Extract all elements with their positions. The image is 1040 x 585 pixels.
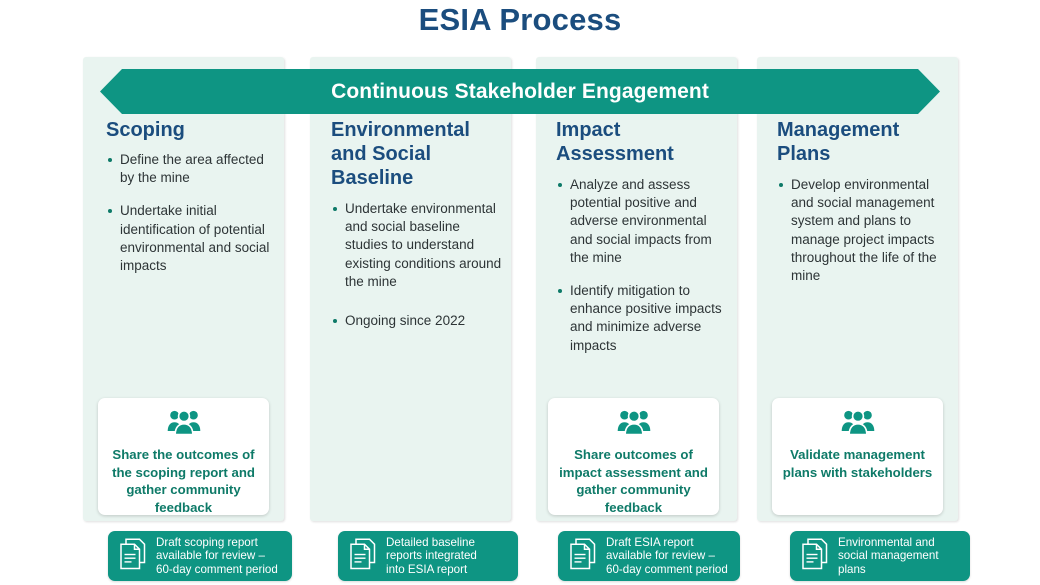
bullet-list-baseline: Undertake environmental and social basel… xyxy=(331,200,506,330)
column-content-management-plans: Management Plans Develop environmental a… xyxy=(777,118,952,285)
column-heading-management-plans: Management Plans xyxy=(777,118,952,166)
people-group-icon xyxy=(617,409,651,440)
bullet-list-scoping: Define the area affected by the mine Und… xyxy=(106,151,276,275)
engagement-text: Validate management plans with stakehold… xyxy=(772,446,943,481)
documents-icon xyxy=(349,538,377,575)
document-bar-baseline: Detailed baseline reports integrated int… xyxy=(338,531,518,581)
list-item: Identify mitigation to enhance positive … xyxy=(556,282,731,355)
engagement-card-scoping: Share the outcomes of the scoping report… xyxy=(98,398,269,515)
esia-process-diagram: ESIA Process Continuous Stakeholder Enga… xyxy=(0,0,1040,585)
list-item: Undertake environmental and social basel… xyxy=(331,200,506,291)
document-bar-management-plans: Environmental and social management plan… xyxy=(790,531,970,581)
documents-icon xyxy=(119,538,147,575)
column-heading-impact-assessment: Impact Assessment xyxy=(556,118,731,166)
engagement-text: Share outcomes of impact assessment and … xyxy=(548,446,719,516)
list-item: Define the area affected by the mine xyxy=(106,151,276,187)
column-heading-scoping: Scoping xyxy=(106,118,276,142)
bullet-list-management-plans: Develop environmental and social managem… xyxy=(777,176,952,285)
document-text: Draft ESIA report available for review –… xyxy=(606,536,728,577)
list-item: Undertake initial identification of pote… xyxy=(106,202,276,275)
column-content-impact-assessment: Impact Assessment Analyze and assess pot… xyxy=(556,118,731,355)
people-group-icon xyxy=(167,409,201,440)
column-heading-baseline: Environmental and Social Baseline xyxy=(331,118,506,190)
document-text: Detailed baseline reports integrated int… xyxy=(386,536,477,577)
people-group-icon xyxy=(841,409,875,440)
bullet-list-impact-assessment: Analyze and assess potential positive an… xyxy=(556,176,731,355)
document-bar-scoping: Draft scoping report available for revie… xyxy=(108,531,292,581)
column-content-scoping: Scoping Define the area affected by the … xyxy=(106,118,276,275)
continuous-engagement-banner: Continuous Stakeholder Engagement xyxy=(100,69,940,114)
list-item: Ongoing since 2022 xyxy=(331,312,506,330)
documents-icon xyxy=(569,538,597,575)
documents-icon xyxy=(801,538,829,575)
document-bar-impact-assessment: Draft ESIA report available for review –… xyxy=(558,531,740,581)
engagement-card-management-plans: Validate management plans with stakehold… xyxy=(772,398,943,515)
document-text: Environmental and social management plan… xyxy=(838,536,939,577)
list-item: Develop environmental and social managem… xyxy=(777,176,952,285)
engagement-text: Share the outcomes of the scoping report… xyxy=(98,446,269,516)
banner-label: Continuous Stakeholder Engagement xyxy=(331,80,709,104)
document-text: Draft scoping report available for revie… xyxy=(156,536,278,577)
list-item: Analyze and assess potential positive an… xyxy=(556,176,731,267)
column-content-baseline: Environmental and Social Baseline Undert… xyxy=(331,118,506,351)
engagement-card-impact-assessment: Share outcomes of impact assessment and … xyxy=(548,398,719,515)
page-title: ESIA Process xyxy=(0,0,1040,42)
